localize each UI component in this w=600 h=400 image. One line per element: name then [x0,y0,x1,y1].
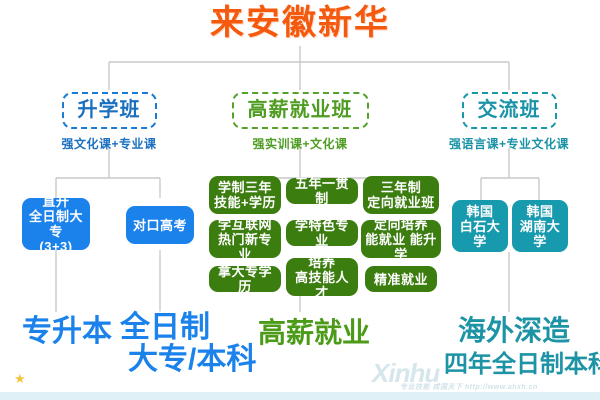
node-exchange-1[interactable]: 韩国 白石大学 [452,200,508,252]
node-line: 定向就业班 [367,195,435,210]
category-exchange-label: 交流班 [462,92,557,129]
slogan-sinian-benke: 四年全日制本科 [444,352,600,377]
category-exchange-subtitle: 强语言课+专业文化课 [434,135,584,152]
node-line: 学互联网 [213,217,277,232]
slogan-quanrizhi: 全日制 [120,312,210,344]
node-line: 热门新专业 [213,232,277,262]
node-employment-c3-2[interactable]: 定向培养 能就业 能升学 [361,220,441,258]
slogan-zhuanshengben: 专升本 [22,316,112,348]
node-line: 拿大专学历 [213,264,277,294]
slogan-gaoxinjiuye: 高薪就业 [258,318,370,347]
node-line: 韩国 [456,204,504,219]
category-employment[interactable]: 高薪就业班 强实训课+文化课 [220,92,380,152]
node-employment-c2-3[interactable]: 培养 高技能人才 [286,258,358,296]
category-employment-subtitle: 强实训课+文化课 [220,135,380,152]
node-line: 直升 [26,194,86,209]
category-upgrade-label: 升学班 [62,92,157,129]
node-employment-c1-2[interactable]: 学互联网 热门新专业 [209,220,281,258]
node-line: (3+3) [26,239,86,254]
node-line: 技能+学历 [214,195,276,210]
category-employment-label: 高薪就业班 [232,92,369,129]
node-line: 培养 [290,255,354,270]
node-employment-c3-3[interactable]: 精准就业 [365,266,437,292]
node-line: 白石大学 [456,219,504,249]
node-line: 高技能人才 [290,270,354,300]
node-employment-c1-3[interactable]: 拿大专学历 [209,266,281,292]
category-exchange[interactable]: 交流班 强语言课+专业文化课 [434,92,584,152]
node-upgrade-2[interactable]: 对口高考 [126,206,194,244]
page-title: 来安徽新华 [0,2,600,44]
node-line: 韩国 [516,204,564,219]
node-employment-c1-1[interactable]: 学制三年 技能+学历 [209,176,281,214]
node-employment-c2-2[interactable]: 学特色专业 [286,220,358,246]
node-employment-c3-1[interactable]: 三年制 定向就业班 [363,176,439,214]
node-line: 学制三年 [214,180,276,195]
node-employment-c2-1[interactable]: 五年一贯制 [286,178,358,204]
node-line: 对口高考 [133,218,187,233]
node-line: 湖南大学 [516,219,564,249]
infographic-canvas: 来安徽新华 升学班 强文化课+专业课 高薪就业班 强实训课+文化课 交流班 强语… [0,0,600,400]
node-line: 全日制大专 [26,209,86,239]
category-upgrade-subtitle: 强文化课+专业课 [34,135,184,152]
bottom-bar [0,392,600,400]
node-line: 能就业 能升学 [365,232,437,262]
slogan-dazhuan-benke: 大专/本科 [128,344,256,376]
node-line: 定向培养 [365,217,437,232]
node-upgrade-1[interactable]: 直升 全日制大专 (3+3) [22,198,90,250]
category-upgrade[interactable]: 升学班 强文化课+专业课 [34,92,184,152]
slogan-haiwaishenzao: 海外深造 [458,316,570,345]
node-line: 学特色专业 [290,218,354,248]
node-line: 三年制 [367,180,435,195]
node-line: 五年一贯制 [290,176,354,206]
star-icon: ★ [14,371,26,387]
node-line: 精准就业 [374,272,428,287]
node-exchange-2[interactable]: 韩国 湖南大学 [512,200,568,252]
